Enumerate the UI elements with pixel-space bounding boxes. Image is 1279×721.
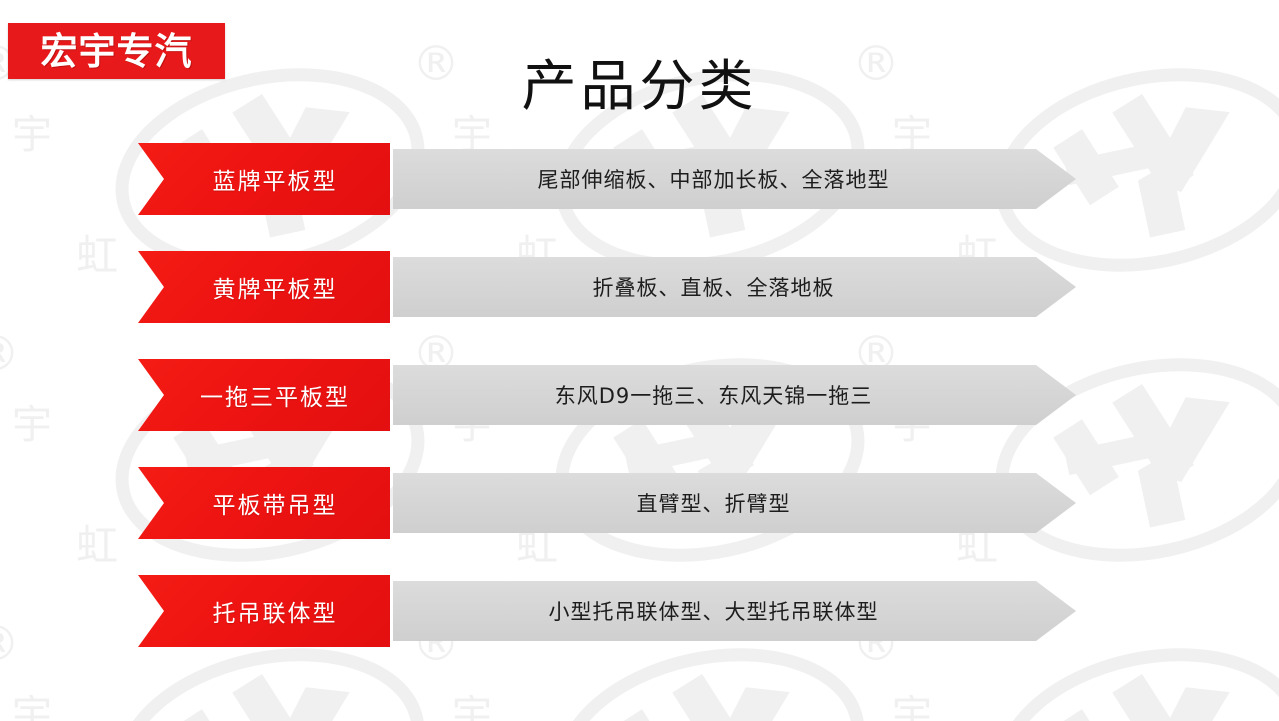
category-flag-text: 托吊联体型 [213,594,338,628]
category-flag[interactable]: 一拖三平板型 [138,359,390,431]
category-detail-bar[interactable]: 折叠板、直板、全落地板 [393,257,1076,317]
category-detail-text: 东风D9一拖三、东风天锦一拖三 [555,380,873,410]
category-flag-text: 蓝牌平板型 [213,162,338,196]
category-detail-text: 小型托吊联体型、大型托吊联体型 [549,596,879,626]
category-detail-text: 折叠板、直板、全落地板 [593,272,835,302]
category-flag[interactable]: 蓝牌平板型 [138,143,390,215]
category-row: 折叠板、直板、全落地板 黄牌平板型 [0,251,1279,323]
category-row: 尾部伸缩板、中部加长板、全落地型 蓝牌平板型 [0,143,1279,215]
category-detail-text: 尾部伸缩板、中部加长板、全落地型 [538,164,890,194]
slide-canvas: ® 宇 虹 ® 宇 [0,0,1279,721]
page-title: 产品分类 [0,56,1279,117]
category-detail-bar[interactable]: 尾部伸缩板、中部加长板、全落地型 [393,149,1076,209]
category-flag[interactable]: 黄牌平板型 [138,251,390,323]
category-row: 小型托吊联体型、大型托吊联体型 托吊联体型 [0,575,1279,647]
category-flag-text: 平板带吊型 [213,486,338,520]
category-detail-bar[interactable]: 小型托吊联体型、大型托吊联体型 [393,581,1076,641]
category-row: 东风D9一拖三、东风天锦一拖三 一拖三平板型 [0,359,1279,431]
category-row: 直臂型、折臂型 平板带吊型 [0,467,1279,539]
category-flag-text: 黄牌平板型 [213,270,338,304]
category-detail-bar[interactable]: 直臂型、折臂型 [393,473,1076,533]
category-flag-text: 一拖三平板型 [200,378,350,412]
category-flag[interactable]: 平板带吊型 [138,467,390,539]
category-flag[interactable]: 托吊联体型 [138,575,390,647]
category-detail-text: 直臂型、折臂型 [637,488,791,518]
category-detail-bar[interactable]: 东风D9一拖三、东风天锦一拖三 [393,365,1076,425]
